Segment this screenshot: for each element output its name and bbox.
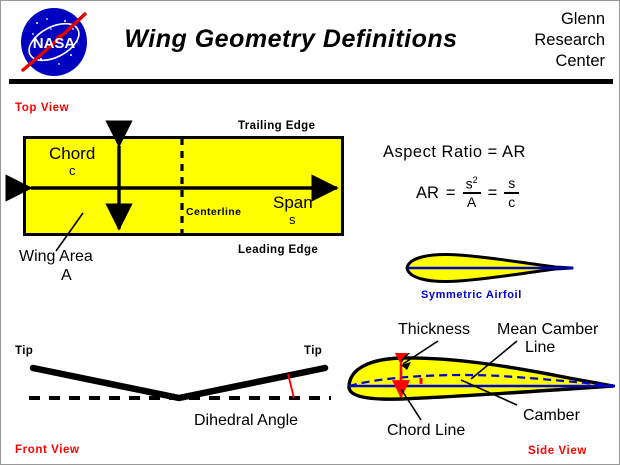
- mean-camber-label: Mean Camber: [497, 321, 598, 339]
- mean-camber-label-line2: Line: [525, 339, 555, 357]
- thickness-label: Thickness: [398, 321, 470, 339]
- camber-label: Camber: [523, 407, 580, 425]
- chord-line-label: Chord Line: [387, 422, 465, 440]
- side-view-label: Side View: [528, 445, 587, 457]
- wing-geometry-diagram: NASA Wing Geometry Definitions Glenn Res…: [0, 0, 620, 465]
- chord-line-leader-line: [401, 389, 421, 420]
- camber-leader-line: [461, 380, 517, 405]
- side-view-annotation-layer: [1, 1, 620, 465]
- mean-camber-leader-line: [471, 341, 517, 379]
